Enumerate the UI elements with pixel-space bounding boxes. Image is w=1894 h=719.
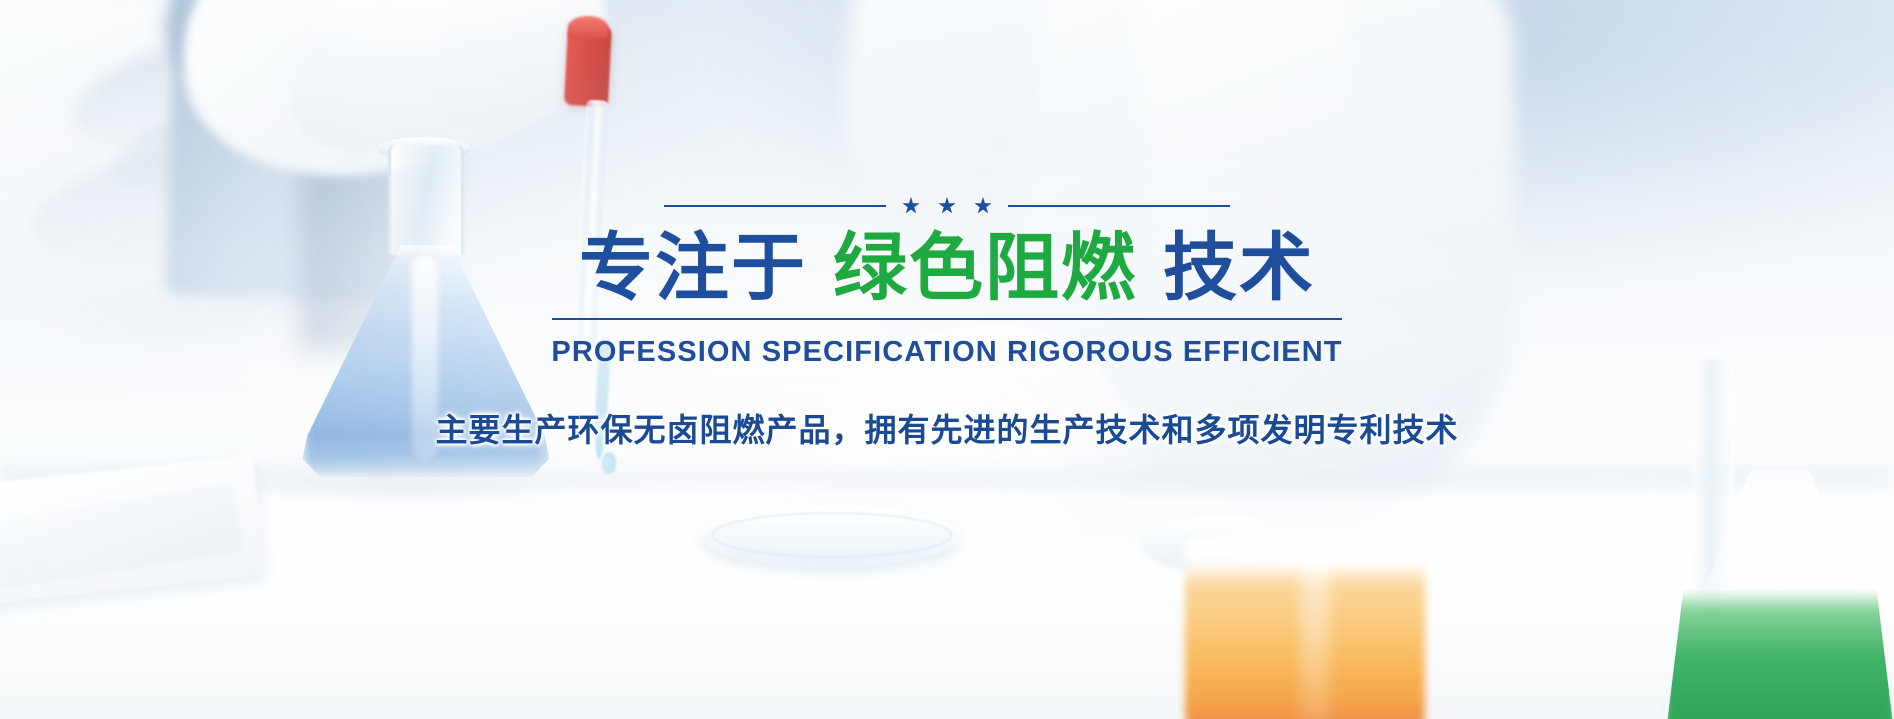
title-part-3: 技术 [1163,226,1315,309]
star-icon [902,197,920,215]
orange-beaker-highlight [1300,545,1330,719]
pipette-bulb-top [568,16,608,38]
divider-line-left [664,205,886,207]
star-icon [974,197,992,215]
title-part-2: 绿色阻燃 [833,226,1137,309]
divider-line-right [1008,205,1230,207]
green-flask-liquid [1665,590,1894,719]
title-part-1: 专注于 [579,226,807,309]
decor-rule-row [0,196,1894,216]
banner-title: 专注于绿色阻燃技术 [0,228,1894,308]
star-icon [938,197,956,215]
banner-content: 专注于绿色阻燃技术 PROFESSION SPECIFICATION RIGOR… [0,196,1894,451]
hero-banner: 专注于绿色阻燃技术 PROFESSION SPECIFICATION RIGOR… [0,0,1894,719]
title-underline [552,318,1342,320]
star-group [902,197,992,215]
banner-subtitle-english: PROFESSION SPECIFICATION RIGOROUS EFFICI… [0,336,1894,369]
petri-dish-rim [712,512,952,558]
desk-edge-shadow [0,470,1894,496]
banner-subtitle-chinese: 主要生产环保无卤阻燃产品，拥有先进的生产技术和多项发明专利技术 [0,405,1894,451]
